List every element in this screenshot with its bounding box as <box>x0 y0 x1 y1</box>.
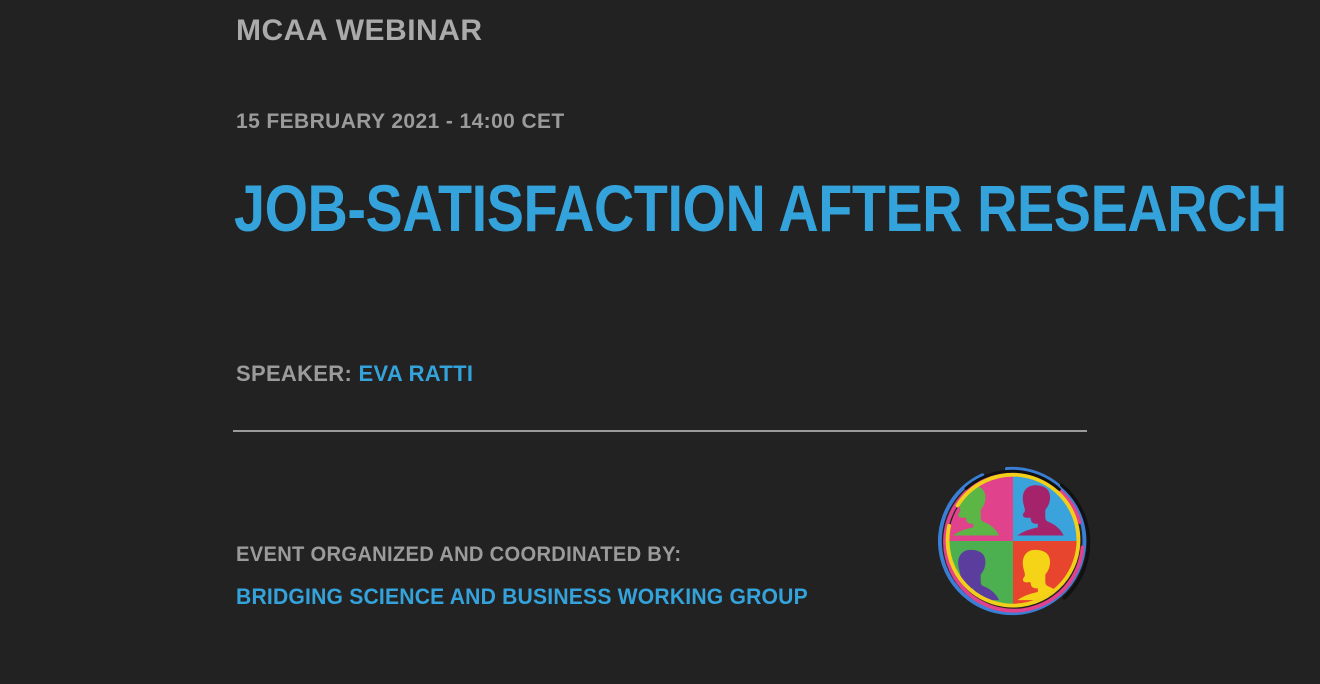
organizer-label: EVENT ORGANIZED AND COORDINATED BY: <box>236 543 681 566</box>
eyebrow-label: MCAA WEBINAR <box>236 14 483 47</box>
page-title: JOB-SATISFACTION AFTER RESEARCH <box>234 175 1287 241</box>
speaker-line: SPEAKER: EVA RATTI <box>236 362 473 386</box>
mcaa-popart-logo-icon <box>928 455 1098 627</box>
mcaa-logo <box>928 455 1098 627</box>
speaker-name: EVA RATTI <box>359 361 474 386</box>
speaker-label: SPEAKER: <box>236 361 352 386</box>
event-datetime: 15 FEBRUARY 2021 - 14:00 CET <box>236 110 565 133</box>
webinar-poster: MCAA WEBINAR 15 FEBRUARY 2021 - 14:00 CE… <box>0 0 1320 684</box>
divider <box>233 430 1087 432</box>
organizer-name: BRIDGING SCIENCE AND BUSINESS WORKING GR… <box>236 585 808 609</box>
